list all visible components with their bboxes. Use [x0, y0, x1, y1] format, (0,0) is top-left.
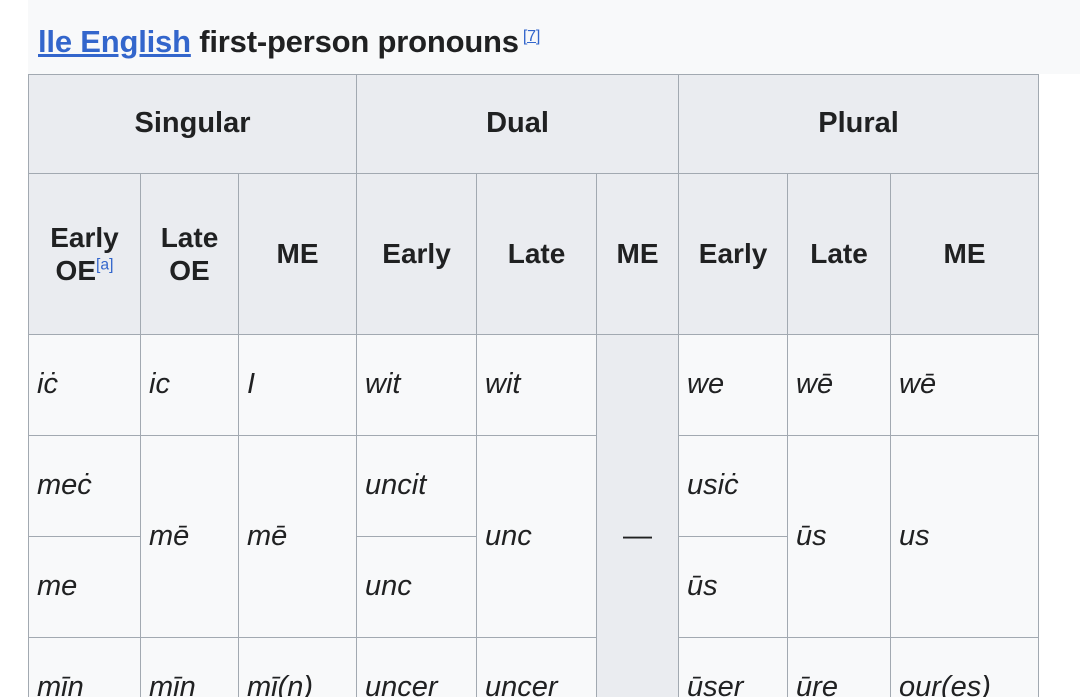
- cell-accusative-plural-early: usiċ: [679, 435, 788, 536]
- first-person-pronouns-table: Singular Dual Plural Early OE[a] Late OE…: [28, 74, 1039, 697]
- cell-accusative-singular-early-oe: meċ: [29, 435, 141, 536]
- column-header-dual-late: Late: [477, 173, 597, 334]
- cell-nominative-dual-late: wit: [477, 334, 597, 435]
- cell-nominative-plural-me: wē: [891, 334, 1039, 435]
- cell-dual-me-unattested: —: [597, 334, 679, 697]
- cell-dative-singular-early-oe: me: [29, 536, 141, 637]
- column-header-plural-early: Early: [679, 173, 788, 334]
- cell-nominative-plural-late: wē: [788, 334, 891, 435]
- table-row: iċ ic I wit wit — we wē wē: [29, 334, 1039, 435]
- cell-oblique-dual-late: unc: [477, 435, 597, 637]
- column-header-plural-late: Late: [788, 173, 891, 334]
- caption-link-middle-english[interactable]: lle English: [38, 24, 191, 59]
- column-header-plural-me: ME: [891, 173, 1039, 334]
- cell-genitive-dual-late: uncer: [477, 637, 597, 697]
- cell-dative-dual-early: unc: [357, 536, 477, 637]
- column-header-label: Early OE: [50, 222, 119, 286]
- table-row: meċ mē mē uncit unc usiċ ūs us: [29, 435, 1039, 536]
- cell-oblique-singular-late-oe: mē: [141, 435, 239, 637]
- screenshot-viewport: lle English first-person pronouns[7] Sin…: [0, 0, 1080, 697]
- cell-genitive-singular-me: mī(n): [239, 637, 357, 697]
- cell-genitive-dual-early: uncer: [357, 637, 477, 697]
- column-header-row: Early OE[a] Late OE ME Early Late ME Ear…: [29, 173, 1039, 334]
- group-header-plural: Plural: [679, 74, 1039, 173]
- cell-oblique-plural-late: ūs: [788, 435, 891, 637]
- column-header-singular-late-oe: Late OE: [141, 173, 239, 334]
- cell-oblique-plural-me: us: [891, 435, 1039, 637]
- table-row: mīn mīn mī(n) uncer uncer ūser ūre our(e…: [29, 637, 1039, 697]
- table-caption: lle English first-person pronouns[7]: [28, 0, 1080, 74]
- cell-nominative-singular-late-oe: ic: [141, 334, 239, 435]
- cell-genitive-plural-early: ūser: [679, 637, 788, 697]
- group-header-row: Singular Dual Plural: [29, 74, 1039, 173]
- column-header-dual-me: ME: [597, 173, 679, 334]
- cell-genitive-plural-me: our(es): [891, 637, 1039, 697]
- cell-genitive-plural-late: ūre: [788, 637, 891, 697]
- cell-oblique-singular-me: mē: [239, 435, 357, 637]
- footnote-marker-a[interactable]: [a]: [96, 256, 113, 273]
- column-header-singular-me: ME: [239, 173, 357, 334]
- group-header-dual: Dual: [357, 74, 679, 173]
- cell-dative-plural-early: ūs: [679, 536, 788, 637]
- cell-accusative-dual-early: uncit: [357, 435, 477, 536]
- cell-nominative-singular-early-oe: iċ: [29, 334, 141, 435]
- table-head: Singular Dual Plural Early OE[a] Late OE…: [29, 74, 1039, 334]
- infobox-table-wrapper: lle English first-person pronouns[7] Sin…: [28, 0, 1080, 697]
- table-body: iċ ic I wit wit — we wē wē meċ mē mē unc…: [29, 334, 1039, 697]
- cell-nominative-singular-me: I: [239, 334, 357, 435]
- cell-nominative-dual-early: wit: [357, 334, 477, 435]
- citation-reference-7[interactable]: [7]: [523, 27, 540, 45]
- column-header-singular-early-oe: Early OE[a]: [29, 173, 141, 334]
- cell-genitive-singular-late-oe: mīn: [141, 637, 239, 697]
- cell-genitive-singular-early-oe: mīn: [29, 637, 141, 697]
- cell-nominative-plural-early: we: [679, 334, 788, 435]
- caption-rest-text: first-person pronouns: [191, 24, 519, 59]
- group-header-singular: Singular: [29, 74, 357, 173]
- column-header-dual-early: Early: [357, 173, 477, 334]
